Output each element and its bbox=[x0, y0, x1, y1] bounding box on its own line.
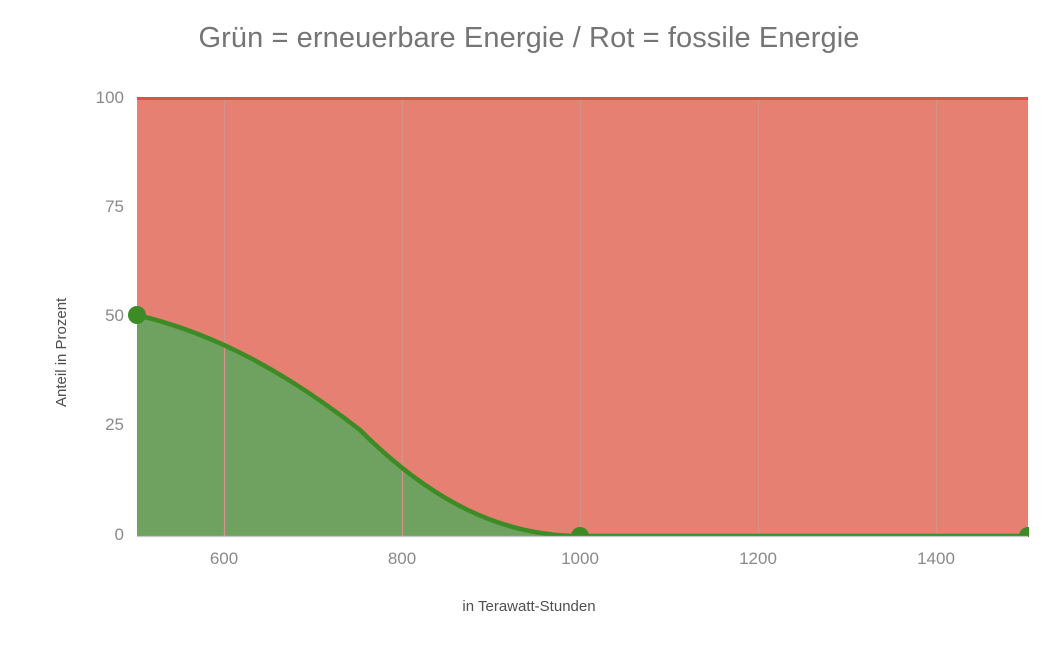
y-tick-label-25: 25 bbox=[66, 415, 124, 435]
y-tick-label-75: 75 bbox=[66, 197, 124, 217]
x-tick-label-1200: 1200 bbox=[739, 549, 777, 569]
y-tick-label-0: 0 bbox=[66, 525, 124, 545]
y-axis-title: Anteil in Prozent bbox=[53, 298, 70, 407]
chart-container: Grün = erneuerbare Energie / Rot = fossi… bbox=[0, 0, 1058, 653]
x-tick-label-1400: 1400 bbox=[917, 549, 955, 569]
axis-mask-right bbox=[1029, 80, 1058, 560]
y-tick-label-100: 100 bbox=[66, 88, 124, 108]
y-tick-label-50: 50 bbox=[66, 306, 124, 326]
x-tick-label-1000: 1000 bbox=[561, 549, 599, 569]
x-tick-label-600: 600 bbox=[210, 549, 238, 569]
x-axis-title: in Terawatt-Stunden bbox=[0, 598, 1058, 615]
x-tick-label-800: 800 bbox=[388, 549, 416, 569]
axis-mask-bottom bbox=[0, 537, 1058, 577]
chart-plot-area bbox=[0, 0, 1058, 653]
data-point-marker[interactable] bbox=[128, 306, 146, 324]
